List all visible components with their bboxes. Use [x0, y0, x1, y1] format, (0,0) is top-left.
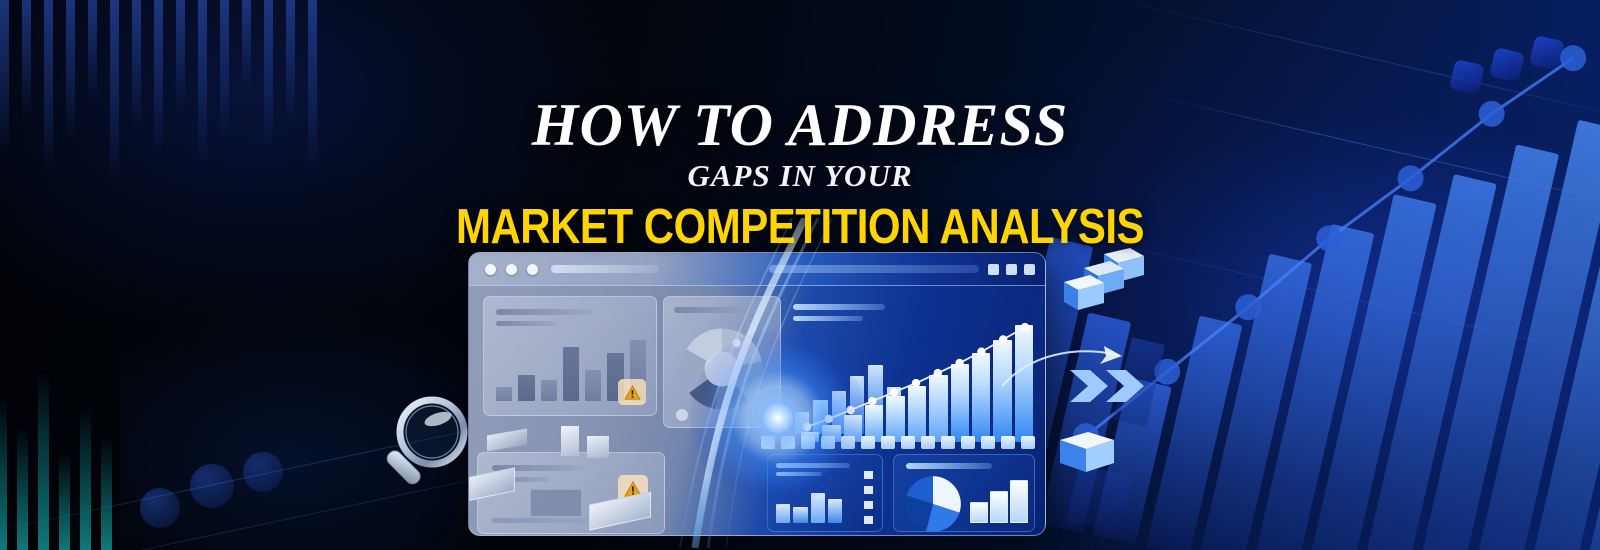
strip-tile	[761, 436, 775, 449]
pie-chart	[904, 475, 962, 533]
legend-swatch	[864, 501, 873, 509]
chart-bar	[496, 387, 512, 401]
decorative-bar	[242, 0, 251, 90]
window-control-square[interactable]	[1006, 264, 1017, 275]
chart-bar	[990, 491, 1008, 523]
legend-panel-bars	[776, 481, 842, 523]
pie-panel-bars	[970, 475, 1026, 523]
decorative-rounded-square	[1489, 47, 1525, 83]
document-tile	[530, 489, 582, 517]
decorative-circle	[243, 452, 283, 492]
growth-trendline	[801, 320, 1033, 442]
strip-tile	[781, 436, 795, 449]
trend-polyline	[807, 327, 1025, 427]
bar-chart-report-panel[interactable]	[483, 296, 657, 416]
chart-bar	[793, 507, 807, 523]
trend-node	[846, 406, 854, 414]
window-control-square[interactable]	[1024, 264, 1035, 275]
floating-block	[587, 436, 609, 458]
growth-bar-chart-panel[interactable]	[785, 292, 1035, 442]
decorative-bar	[88, 0, 97, 100]
toolbar-strip	[769, 265, 979, 273]
decorative-rounded-square	[1449, 59, 1485, 95]
decorative-circle	[140, 488, 180, 528]
dashboard-window[interactable]	[468, 252, 1046, 536]
panel-subheading-bar	[776, 472, 822, 476]
chart-bar	[518, 375, 534, 401]
strip-tile	[901, 436, 915, 449]
donut-chart-panel[interactable]	[663, 296, 781, 428]
background-trend-node	[1235, 294, 1262, 321]
warning-triangle-icon	[624, 385, 641, 400]
headline-line-3: MARKET COMPETITION ANALYSIS	[0, 200, 1600, 253]
isometric-cube-single	[1056, 428, 1118, 476]
background-chart-bar	[1198, 254, 1312, 550]
strip-tile	[1001, 436, 1015, 449]
panel-heading-bar	[793, 304, 885, 310]
decorative-rounded-square	[1529, 35, 1565, 71]
panel-heading-bar	[674, 307, 756, 313]
strip-tile	[921, 436, 935, 449]
background-chart-bar	[1568, 276, 1600, 550]
decorative-bar	[0, 400, 7, 550]
traffic-light-dot[interactable]	[506, 264, 517, 275]
strip-tile	[1021, 436, 1035, 449]
isometric-cube-stack	[1058, 248, 1144, 318]
trend-node	[977, 348, 985, 356]
trend-node	[825, 415, 833, 423]
floating-block	[487, 428, 527, 451]
tile-strip	[761, 436, 1037, 449]
panel-subheading-bar	[496, 321, 558, 326]
decorative-bar	[59, 455, 70, 550]
strip-tile	[841, 436, 855, 449]
window-title-bar	[469, 253, 1045, 286]
traffic-light-dot[interactable]	[527, 264, 538, 275]
strip-tile	[821, 436, 835, 449]
address-bar[interactable]	[551, 265, 659, 273]
chart-bar	[828, 499, 842, 523]
headline-line-2: GAPS IN YOUR	[0, 154, 1600, 198]
trend-node	[955, 359, 963, 367]
legend-swatch	[864, 516, 873, 524]
legend-swatch	[864, 471, 873, 479]
trend-node	[1021, 323, 1029, 331]
background-trend-node	[1560, 45, 1587, 72]
bottom-left-teal-bars	[0, 360, 126, 550]
strip-tile	[941, 436, 955, 449]
strip-tile	[861, 436, 875, 449]
double-chevron-icon	[1068, 368, 1144, 404]
legend-bar-chart-panel[interactable]	[767, 454, 883, 532]
panel-heading-bar	[776, 463, 850, 468]
strip-tile	[801, 436, 815, 449]
trend-node	[934, 369, 942, 377]
decorative-bar	[17, 430, 28, 550]
chart-bar	[970, 502, 988, 523]
headline-line-1: HOW TO ADDRESS	[0, 96, 1600, 154]
trend-node	[912, 379, 920, 387]
strip-tile	[981, 436, 995, 449]
chart-bar	[811, 493, 825, 523]
strip-tile	[881, 436, 895, 449]
chart-bar	[585, 370, 601, 402]
trend-node	[803, 423, 811, 431]
strip-tile	[961, 436, 975, 449]
headline-block: HOW TO ADDRESS GAPS IN YOUR MARKET COMPE…	[0, 96, 1600, 246]
decorative-bar	[176, 0, 185, 110]
chart-bar	[563, 347, 579, 401]
decorative-bar	[80, 410, 91, 550]
trend-node	[890, 388, 898, 396]
floating-block	[561, 426, 579, 456]
decorative-bar	[101, 440, 112, 550]
decorative-bar	[38, 375, 49, 550]
legend-list	[864, 471, 874, 523]
chart-bar	[541, 380, 557, 401]
magnifying-glass-icon	[378, 388, 474, 500]
chart-bar	[776, 504, 790, 523]
marketing-banner: HOW TO ADDRESS GAPS IN YOUR MARKET COMPE…	[0, 0, 1600, 550]
legend-swatch	[864, 486, 873, 494]
traffic-light-dot[interactable]	[485, 264, 496, 275]
pie-and-bars-panel[interactable]	[893, 454, 1035, 532]
window-control-square[interactable]	[988, 264, 999, 275]
window-body	[469, 286, 1045, 536]
decorative-circle	[190, 464, 234, 508]
panel-heading-bar	[496, 309, 592, 315]
trend-node	[868, 397, 876, 405]
donut-chart	[676, 323, 768, 415]
warning-badge[interactable]	[618, 379, 646, 405]
background-chart-bar	[1251, 224, 1374, 550]
panel-footer-dot	[676, 409, 688, 421]
panel-heading-bar	[906, 463, 992, 469]
chart-bar	[1010, 480, 1028, 523]
